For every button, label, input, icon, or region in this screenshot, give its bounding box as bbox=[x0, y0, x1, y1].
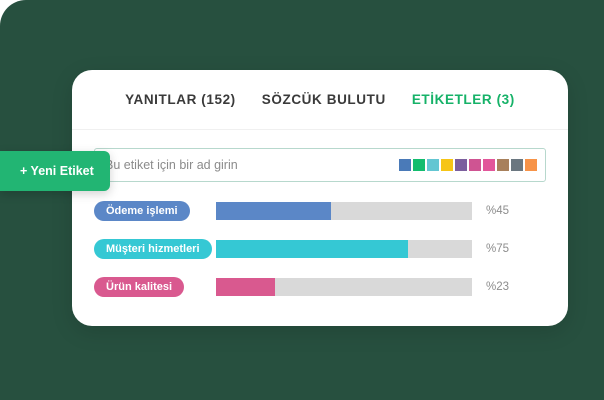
tab-etiketler[interactable]: ETİKETLER (3) bbox=[412, 92, 515, 107]
tag-pill-odeme-islemi[interactable]: Ödeme işlemi bbox=[94, 201, 190, 221]
background-panel-edge bbox=[564, 0, 604, 400]
tag-row: Müşteri hizmetleri %75 bbox=[94, 234, 546, 264]
swatch-purple[interactable] bbox=[455, 159, 467, 171]
tab-sozcuk-bulutu[interactable]: SÖZCÜK BULUTU bbox=[262, 92, 386, 107]
tag-pill-musteri-hizmetleri[interactable]: Müşteri hizmetleri bbox=[94, 239, 212, 259]
tag-row: Ödeme işlemi %45 bbox=[94, 196, 546, 226]
new-tag-button[interactable]: + Yeni Etiket bbox=[0, 151, 110, 191]
swatch-yellow[interactable] bbox=[441, 159, 453, 171]
swatch-slate[interactable] bbox=[511, 159, 523, 171]
swatch-blue[interactable] bbox=[399, 159, 411, 171]
tag-pill-cell: Ürün kalitesi bbox=[94, 277, 216, 297]
tag-pill-cell: Ödeme işlemi bbox=[94, 201, 216, 221]
swatch-orange[interactable] bbox=[525, 159, 537, 171]
swatch-magenta[interactable] bbox=[483, 159, 495, 171]
tag-list: Ödeme işlemi %45 Müşteri hizmetleri %75 bbox=[94, 196, 546, 302]
tag-name-input[interactable] bbox=[105, 158, 399, 172]
tags-card: YANITLAR (152) SÖZCÜK BULUTU ETİKETLER (… bbox=[72, 70, 568, 326]
tag-bar-track bbox=[216, 202, 472, 220]
tab-yanitlar[interactable]: YANITLAR (152) bbox=[125, 92, 236, 107]
tag-name-row bbox=[94, 148, 546, 182]
tag-pill-urun-kalitesi[interactable]: Ürün kalitesi bbox=[94, 277, 184, 297]
tag-row: Ürün kalitesi %23 bbox=[94, 272, 546, 302]
swatch-pink[interactable] bbox=[469, 159, 481, 171]
tag-percent-label: %75 bbox=[486, 243, 509, 255]
swatch-brown[interactable] bbox=[497, 159, 509, 171]
tag-percent-label: %23 bbox=[486, 281, 509, 293]
tab-bar: YANITLAR (152) SÖZCÜK BULUTU ETİKETLER (… bbox=[72, 70, 568, 130]
tag-pill-cell: Müşteri hizmetleri bbox=[94, 239, 216, 259]
tag-bar-track bbox=[216, 240, 472, 258]
tag-bar-fill bbox=[216, 278, 275, 296]
tag-percent-label: %45 bbox=[486, 205, 509, 217]
swatch-teal[interactable] bbox=[427, 159, 439, 171]
tag-bar-fill bbox=[216, 202, 331, 220]
color-swatch-list bbox=[399, 159, 537, 171]
tag-bar-fill bbox=[216, 240, 408, 258]
screenshot-root: YANITLAR (152) SÖZCÜK BULUTU ETİKETLER (… bbox=[0, 0, 604, 400]
tag-bar-track bbox=[216, 278, 472, 296]
swatch-green[interactable] bbox=[413, 159, 425, 171]
card-body: Ödeme işlemi %45 Müşteri hizmetleri %75 bbox=[72, 130, 568, 302]
